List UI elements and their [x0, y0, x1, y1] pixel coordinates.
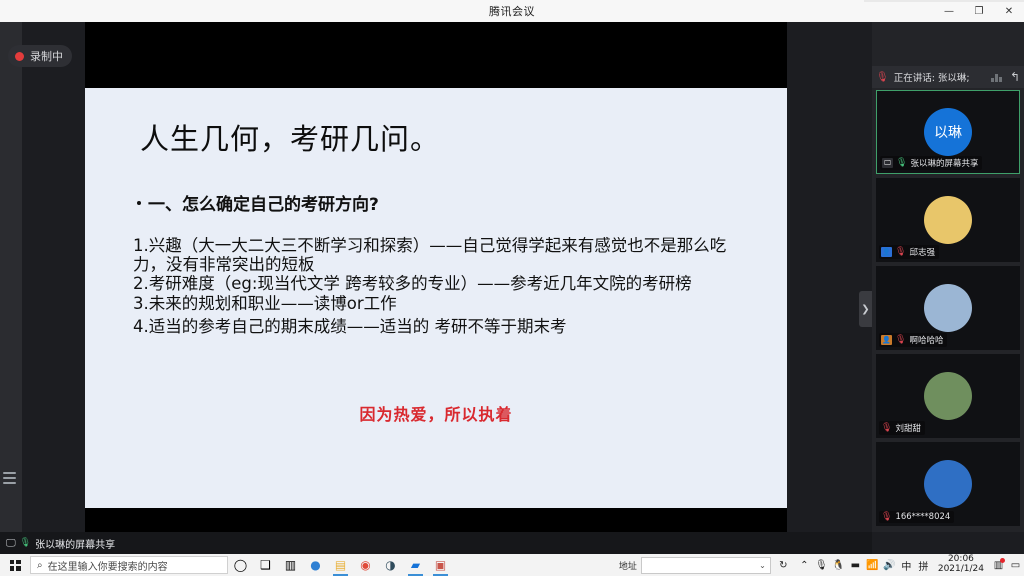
speaking-status-text: 正在讲话: 张以琳; [894, 70, 986, 84]
tencent-meeting-icon[interactable]: ▰ [403, 554, 428, 576]
bullet-dot-icon [137, 201, 141, 205]
collapse-panel-button[interactable]: ❯ [859, 291, 872, 327]
microphone-muted-icon: 🎙 [895, 335, 906, 345]
search-input[interactable]: ⌕ 在这里输入你要搜索的内容 [30, 556, 228, 574]
participant-name: 刘甜甜 [895, 422, 921, 434]
slide-line-1: 1.兴趣（大一大二大三不断学习和探索）——自己觉得学起来有感觉也不是那么吃力，没… [133, 236, 753, 274]
address-field-group: 地址 ⌄ ↻ [619, 554, 792, 576]
microphone-on-icon: 🎙 [896, 158, 907, 168]
task-view-icon-glyph: ❑ [260, 559, 271, 571]
person-icon: 👤 [881, 247, 892, 257]
participant-nameplate: 🖵🎙张以琳的屏幕共享 [880, 156, 982, 170]
file-explorer-icon-glyph: ▤ [335, 559, 346, 571]
avatar [924, 196, 972, 244]
slide-line-3: 3.未来的规划和职业——读博or工作 [133, 293, 753, 316]
app-icon[interactable]: ▥ [278, 554, 303, 576]
participant-tile[interactable]: 👤🎙啊哈哈哈 [876, 266, 1020, 350]
shared-screen-stage[interactable]: 人生几何，考研几问。 一、怎么确定自己的考研方向? 1.兴趣（大一大二大三不断学… [85, 22, 787, 532]
recording-label: 录制中 [30, 48, 63, 64]
clock-date: 2021/1/24 [938, 565, 984, 575]
tray-app-icon[interactable]: ▥ [990, 554, 1007, 576]
refresh-icon[interactable]: ↻ [775, 554, 792, 576]
show-hidden-icons[interactable]: ⌃ [796, 554, 813, 576]
participant-name: 166****8024 [895, 512, 950, 522]
participant-tile[interactable]: 以琳🖵🎙张以琳的屏幕共享 [876, 90, 1020, 174]
slide-highlight-text: 因为热爱，所以执着 [85, 401, 787, 425]
search-icon: ⌕ [37, 560, 43, 571]
participant-tile[interactable]: 👤🎙邱志强 [876, 178, 1020, 262]
audio-wave-icon [991, 72, 1002, 82]
slide-line-2: 2.考研难度（eg:现当代文学 跨考较多的专业）——参考近几年文院的考研榜 [133, 274, 753, 293]
microphone-icon: 🎙 [876, 72, 889, 83]
participant-name: 啊哈哈哈 [909, 334, 943, 346]
slide-bullet-heading: 一、怎么确定自己的考研方向? [137, 190, 379, 215]
participant-nameplate: 🎙刘甜甜 [879, 421, 925, 435]
participants-panel: 🎙 正在讲话: 张以琳; ↰ 以琳🖵🎙张以琳的屏幕共享👤🎙邱志强👤🎙啊哈哈哈🎙刘… [872, 22, 1024, 532]
chevron-down-icon[interactable]: ⌄ [759, 561, 766, 570]
avatar [924, 372, 972, 420]
recording-dot-icon [15, 52, 24, 61]
presentation-slide: 人生几何，考研几问。 一、怎么确定自己的考研方向? 1.兴趣（大一大二大三不断学… [85, 88, 787, 508]
close-button[interactable]: ✕ [994, 0, 1024, 22]
edge-icon[interactable]: ● [303, 554, 328, 576]
steam-icon-glyph: ◑ [385, 559, 395, 571]
address-label: 地址 [619, 559, 637, 572]
microphone-icon[interactable]: 🎙 [813, 554, 830, 576]
chrome-icon-glyph: ◉ [360, 559, 370, 571]
microphone-muted-icon: 🎙 [881, 423, 892, 433]
search-placeholder: 在这里输入你要搜索的内容 [48, 558, 168, 573]
app2-icon-glyph: ▣ [435, 559, 446, 571]
windows-taskbar: ⌕ 在这里输入你要搜索的内容 ◯❑▥●▤◉◑▰▣ 地址 ⌄ ↻ ⌃🎙🐧▬📶🔊中拼… [0, 554, 1024, 576]
slide-bullet-text: 一、怎么确定自己的考研方向? [148, 190, 379, 215]
app-icon-glyph: ▥ [285, 559, 296, 571]
address-input[interactable]: ⌄ [641, 557, 771, 574]
participant-tile[interactable]: 🎙166****8024 [876, 442, 1020, 526]
system-tray: 地址 ⌄ ↻ ⌃🎙🐧▬📶🔊中拼 20:06 2021/1/24 ▥ ▭ [619, 554, 1024, 576]
avatar [924, 460, 972, 508]
avatar [924, 284, 972, 332]
screen-share-icon: 🖵 [882, 158, 893, 168]
volume-icon[interactable]: 🔊 [881, 554, 898, 576]
window-controls: — ❐ ✕ [934, 0, 1024, 22]
edge-icon-glyph: ● [310, 559, 320, 571]
steam-icon[interactable]: ◑ [378, 554, 403, 576]
cortana-icon-glyph: ◯ [234, 559, 247, 571]
slide-title: 人生几何，考研几问。 [140, 116, 440, 158]
taskbar-icons: ◯❑▥●▤◉◑▰▣ [228, 554, 453, 576]
qq-icon[interactable]: 🐧 [830, 554, 847, 576]
participant-nameplate: 👤🎙邱志强 [879, 245, 939, 259]
screen: 腾讯会议 — ❐ ✕ 录制中 人生几何，考研几问。 一、怎么确定自己的考研 [0, 0, 1024, 576]
maximize-button[interactable]: ❐ [964, 0, 994, 22]
window-title-bar: 腾讯会议 — ❐ ✕ [0, 0, 1024, 22]
back-arrow-icon[interactable]: ↰ [1007, 70, 1020, 84]
network-icon[interactable]: 📶 [864, 554, 881, 576]
cortana-icon[interactable]: ◯ [228, 554, 253, 576]
ime-layout-icon[interactable]: 拼 [915, 554, 932, 576]
tencent-meeting-icon-glyph: ▰ [411, 559, 420, 571]
person-icon: 👤 [881, 335, 892, 345]
microphone-muted-icon: 🎙 [895, 247, 906, 257]
chrome-icon[interactable]: ◉ [353, 554, 378, 576]
recording-indicator[interactable]: 录制中 [8, 45, 72, 67]
participant-nameplate: 🎙166****8024 [879, 511, 954, 523]
share-status-bar: 🖵 🎙 张以琳的屏幕共享 [0, 532, 872, 554]
participant-tile[interactable]: 🎙刘甜甜 [876, 354, 1020, 438]
tray-icon-list: ⌃🎙🐧▬📶🔊中拼 [796, 554, 932, 576]
participant-tiles: 以琳🖵🎙张以琳的屏幕共享👤🎙邱志强👤🎙啊哈哈哈🎙刘甜甜🎙166****8024 [872, 90, 1024, 532]
speaking-status-bar: 🎙 正在讲话: 张以琳; ↰ [872, 66, 1024, 88]
notification-dot-icon [1000, 558, 1005, 563]
microphone-muted-icon: 🎙 [881, 512, 892, 522]
ime-mode-icon[interactable]: 中 [898, 554, 915, 576]
share-status-text: 张以琳的屏幕共享 [35, 536, 115, 551]
action-center-icon[interactable]: ▭ [1007, 554, 1024, 576]
file-explorer-icon[interactable]: ▤ [328, 554, 353, 576]
list-icon[interactable] [3, 470, 19, 486]
participant-nameplate: 👤🎙啊哈哈哈 [879, 333, 947, 347]
share-mic-icon: 🎙 [20, 538, 31, 548]
avatar: 以琳 [924, 108, 972, 156]
participant-name: 邱志强 [909, 246, 935, 258]
battery-icon[interactable]: ▬ [847, 554, 864, 576]
taskbar-clock[interactable]: 20:06 2021/1/24 [932, 555, 990, 574]
windows-logo-icon[interactable] [0, 554, 30, 576]
slide-body: 1.兴趣（大一大二大三不断学习和探索）——自己觉得学起来有感觉也不是那么吃力，没… [133, 236, 753, 339]
task-view-icon[interactable]: ❑ [253, 554, 278, 576]
meeting-window: 录制中 人生几何，考研几问。 一、怎么确定自己的考研方向? 1.兴趣（大一大二大… [0, 22, 1024, 554]
screen-share-icon: 🖵 [6, 538, 16, 549]
window-title: 腾讯会议 [489, 3, 535, 19]
left-rail [0, 22, 22, 532]
app2-icon[interactable]: ▣ [428, 554, 453, 576]
slide-line-4: 4.适当的参考自己的期末成绩——适当的 考研不等于期末考 [133, 316, 753, 339]
minimize-button[interactable]: — [934, 0, 964, 22]
participant-name: 张以琳的屏幕共享 [910, 157, 978, 169]
